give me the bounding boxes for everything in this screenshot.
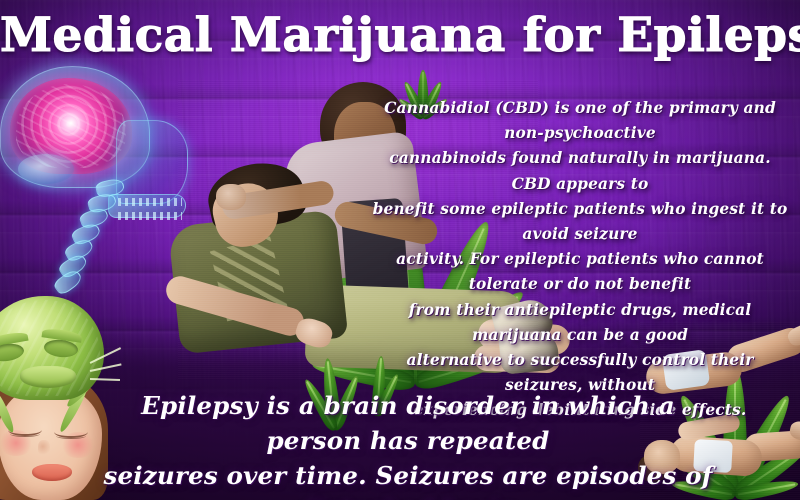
epilepsy-line: seizures over time. Seizures are episode… (100, 458, 716, 500)
cbd-paragraph: Cannabidiol (CBD) is one of the primary … (368, 96, 792, 424)
muse-lash-left (10, 431, 40, 437)
cbd-line: from their antiepileptic drugs, medical … (368, 298, 792, 348)
cbd-line: activity. For epileptic patients who can… (368, 247, 792, 297)
infographic-poster: Medical Marijuana for Epilepsy Cannabidi… (0, 0, 800, 500)
muse-lash-right (56, 433, 86, 439)
muse-lips (32, 464, 72, 481)
cbd-line: cannabinoids found naturally in marijuan… (368, 146, 792, 196)
epilepsy-line: Epilepsy is a brain disorder in which a … (100, 388, 716, 458)
brain-xray-illustration (0, 62, 186, 292)
page-title: Medical Marijuana for Epilepsy (0, 9, 800, 63)
cbd-line: benefit some epileptic patients who inge… (368, 197, 792, 247)
cervical-spine (54, 180, 140, 296)
epilepsy-paragraph: Epilepsy is a brain disorder in which a … (100, 388, 716, 500)
helper-hand (216, 184, 246, 210)
muse-nose (38, 440, 50, 456)
cbd-line: Cannabidiol (CBD) is one of the primary … (368, 96, 792, 146)
creature-mouth (20, 366, 76, 388)
